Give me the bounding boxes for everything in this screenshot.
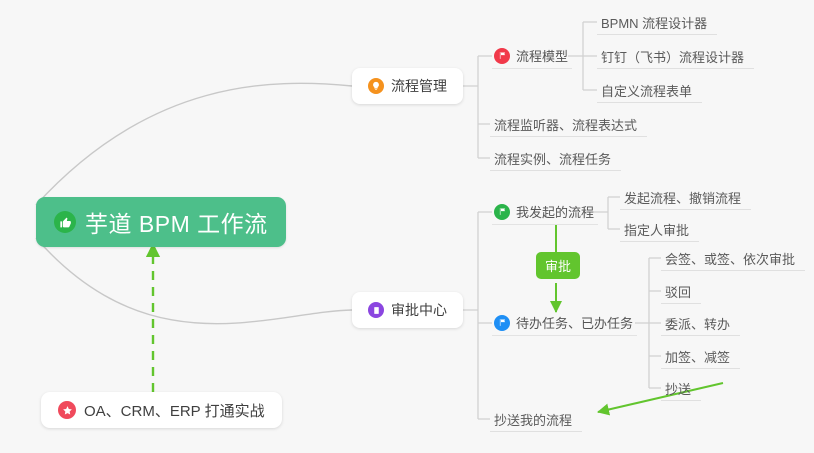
mindmap-canvas[interactable]: 芋道 BPM 工作流 OA、CRM、ERP 打通实战 流程管理 流程模型 BPM… [0, 0, 814, 453]
connector-root-to-process-management [36, 83, 352, 205]
leaf-node-reject[interactable]: 驳回 [661, 279, 701, 304]
branch-node-label: 审批中心 [391, 300, 447, 320]
branch-node-approval-center[interactable]: 审批中心 [352, 292, 463, 328]
leaf-node-cc[interactable]: 抄送 [661, 376, 701, 401]
clipboard-icon [368, 302, 384, 318]
leaf-node-listener-expression[interactable]: 流程监听器、流程表达式 [490, 112, 647, 137]
note-node-label: OA、CRM、ERP 打通实战 [84, 400, 265, 421]
topic-node-my-initiated[interactable]: 我发起的流程 [492, 199, 598, 225]
flag-red-icon [494, 48, 510, 64]
connector-root-to-approval-center [36, 238, 352, 324]
tag-node-label: 审批 [545, 256, 571, 275]
leaf-node-label: 加签、减签 [665, 347, 730, 366]
root-node[interactable]: 芋道 BPM 工作流 [36, 197, 286, 247]
leaf-node-instance-task[interactable]: 流程实例、流程任务 [490, 146, 621, 171]
leaf-node-label: 会签、或签、依次审批 [665, 249, 795, 268]
flag-green-icon [494, 204, 510, 220]
leaf-node-custom-process-form[interactable]: 自定义流程表单 [597, 78, 702, 103]
flag-blue-icon [494, 315, 510, 331]
note-node[interactable]: OA、CRM、ERP 打通实战 [41, 392, 282, 428]
topic-node-process-model[interactable]: 流程模型 [492, 43, 572, 69]
leaf-node-label: 自定义流程表单 [601, 81, 692, 100]
topic-node-label: 我发起的流程 [516, 202, 594, 221]
leaf-node-label: 抄送我的流程 [494, 410, 572, 429]
leaf-node-label: 驳回 [665, 282, 691, 301]
leaf-node-label: 发起流程、撤销流程 [624, 188, 741, 207]
star-icon [58, 401, 76, 419]
leaf-node-label: 流程实例、流程任务 [494, 149, 611, 168]
leaf-node-assignee-approval[interactable]: 指定人审批 [620, 217, 699, 242]
leaf-node-dingtalk-feishu-designer[interactable]: 钉钉（飞书）流程设计器 [597, 44, 754, 69]
leaf-node-label: 抄送 [665, 379, 691, 398]
leaf-node-label: BPMN 流程设计器 [601, 13, 707, 32]
leaf-node-multi-sign[interactable]: 会签、或签、依次审批 [661, 246, 805, 271]
leaf-node-add-remove-sign[interactable]: 加签、减签 [661, 344, 740, 369]
leaf-node-label: 委派、转办 [665, 314, 730, 333]
topic-node-label: 流程模型 [516, 46, 568, 65]
leaf-node-label: 流程监听器、流程表达式 [494, 115, 637, 134]
tag-node-approval[interactable]: 审批 [536, 252, 580, 279]
leaf-node-label: 指定人审批 [624, 220, 689, 239]
leaf-node-bpmn-designer[interactable]: BPMN 流程设计器 [597, 10, 717, 35]
leaf-node-cc-to-me[interactable]: 抄送我的流程 [490, 407, 582, 432]
leaf-node-label: 钉钉（飞书）流程设计器 [601, 47, 744, 66]
leaf-node-start-cancel[interactable]: 发起流程、撤销流程 [620, 185, 751, 210]
branch-node-label: 流程管理 [391, 76, 447, 96]
lightbulb-icon [368, 78, 384, 94]
thumbs-up-icon [54, 211, 76, 233]
topic-node-todo-done-tasks[interactable]: 待办任务、已办任务 [492, 310, 637, 336]
leaf-node-delegate-transfer[interactable]: 委派、转办 [661, 311, 740, 336]
root-node-label: 芋道 BPM 工作流 [85, 205, 268, 239]
branch-node-process-management[interactable]: 流程管理 [352, 68, 463, 104]
topic-node-label: 待办任务、已办任务 [516, 313, 633, 332]
